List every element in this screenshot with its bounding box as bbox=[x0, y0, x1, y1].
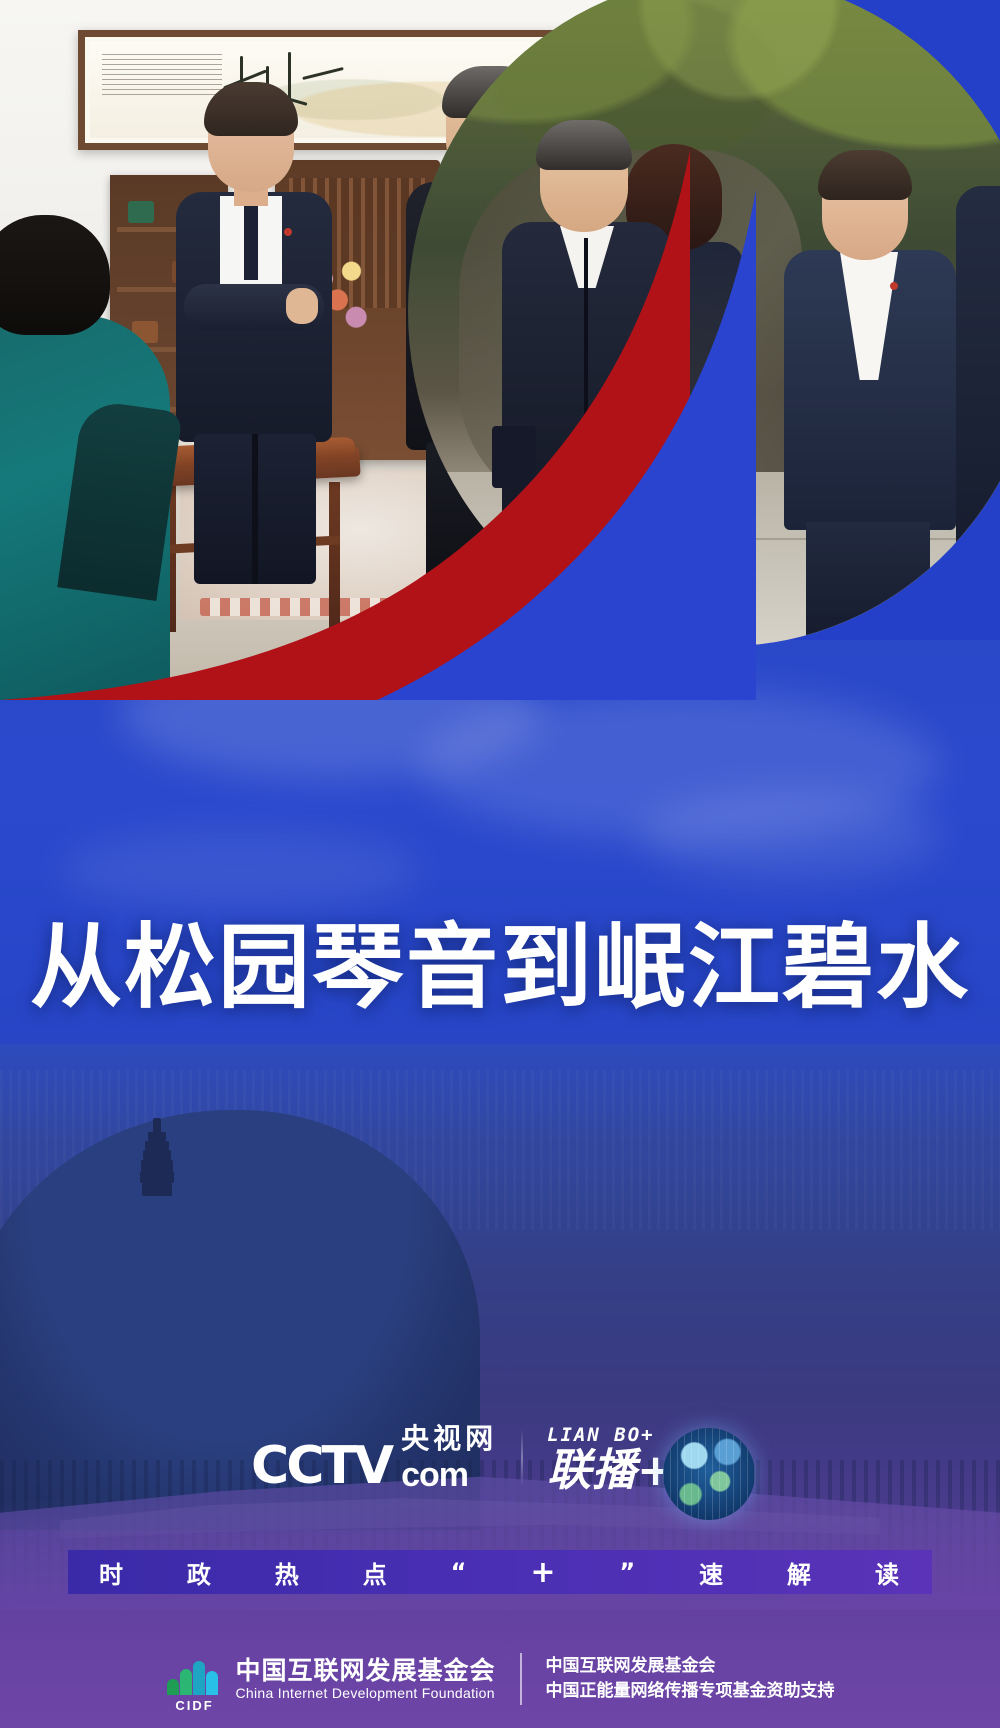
person-xi-outdoor bbox=[494, 126, 684, 646]
lapel-pin bbox=[890, 282, 898, 290]
person-macron-indoor bbox=[168, 88, 348, 578]
minjiang-riverside-walk-photo bbox=[408, 0, 1000, 646]
slogan-quote-close: ” bbox=[619, 1558, 637, 1586]
photo-collage bbox=[0, 0, 1000, 700]
person-macron-outdoor bbox=[778, 156, 968, 646]
slogan-char: 速 bbox=[699, 1555, 725, 1590]
globe-icon bbox=[663, 1428, 755, 1520]
slogan-char: 解 bbox=[787, 1555, 813, 1590]
logo-divider bbox=[521, 1429, 523, 1487]
fund-line-2: 中国正能量网络传播专项基金资助支持 bbox=[546, 1679, 835, 1704]
pagoda-icon bbox=[140, 1118, 174, 1196]
lianbo-chinese-label: 联播+ bbox=[547, 1449, 675, 1493]
cidf-wave-icon: CIDF bbox=[165, 1655, 223, 1703]
slogan-char: 热 bbox=[275, 1555, 301, 1590]
slogan-char: 时 bbox=[99, 1555, 125, 1590]
cctv-com-label: com bbox=[401, 1458, 468, 1492]
brand-logo-row: CCTV 央视网 com LIAN BO+ 联播+ bbox=[0, 1398, 1000, 1518]
globe-meridian-lines bbox=[663, 1428, 755, 1520]
news-poster: 从松园琴音到岷江碧水 CCTV 央视网 com LIAN BO+ 联播+ 时 政… bbox=[0, 0, 1000, 1728]
cloud-shape bbox=[640, 790, 940, 880]
cctv-logo[interactable]: CCTV 央视网 com bbox=[251, 1425, 497, 1492]
slogan-quote-open: “ bbox=[451, 1558, 469, 1586]
footer-sponsor-row: CIDF 中国互联网发展基金会 China Internet Developme… bbox=[0, 1630, 1000, 1728]
slogan-char: 点 bbox=[363, 1555, 389, 1590]
slogan-char: 政 bbox=[187, 1555, 213, 1590]
page-title: 从松园琴音到岷江碧水 bbox=[0, 920, 1000, 1017]
fund-credit: 中国互联网发展基金会 中国正能量网络传播专项基金资助支持 bbox=[546, 1654, 835, 1703]
slogan-plus-symbol: + bbox=[530, 1555, 557, 1590]
cidf-chinese-name: 中国互联网发展基金会 bbox=[235, 1657, 495, 1686]
lianbo-logo[interactable]: LIAN BO+ 联播+ bbox=[547, 1424, 749, 1493]
fund-line-1: 中国互联网发展基金会 bbox=[546, 1654, 835, 1679]
cloud-shape bbox=[60, 830, 420, 910]
cidf-english-name: China Internet Development Foundation bbox=[235, 1685, 495, 1701]
cctv-wordmark: CCTV bbox=[251, 1440, 391, 1492]
cidf-abbr: CIDF bbox=[165, 1698, 223, 1713]
slogan-bar: 时 政 热 点 “ + ” 速 解 读 bbox=[68, 1550, 932, 1594]
slogan-char: 读 bbox=[875, 1555, 901, 1590]
cctv-chinese-label: 央视网 bbox=[401, 1425, 497, 1453]
footer-divider bbox=[520, 1653, 522, 1705]
cidf-logo[interactable]: CIDF 中国互联网发展基金会 China Internet Developme… bbox=[165, 1655, 495, 1703]
lianbo-english-label: LIAN BO+ bbox=[547, 1424, 655, 1446]
person-guqin-player bbox=[0, 215, 180, 700]
lapel-pin bbox=[284, 228, 292, 236]
